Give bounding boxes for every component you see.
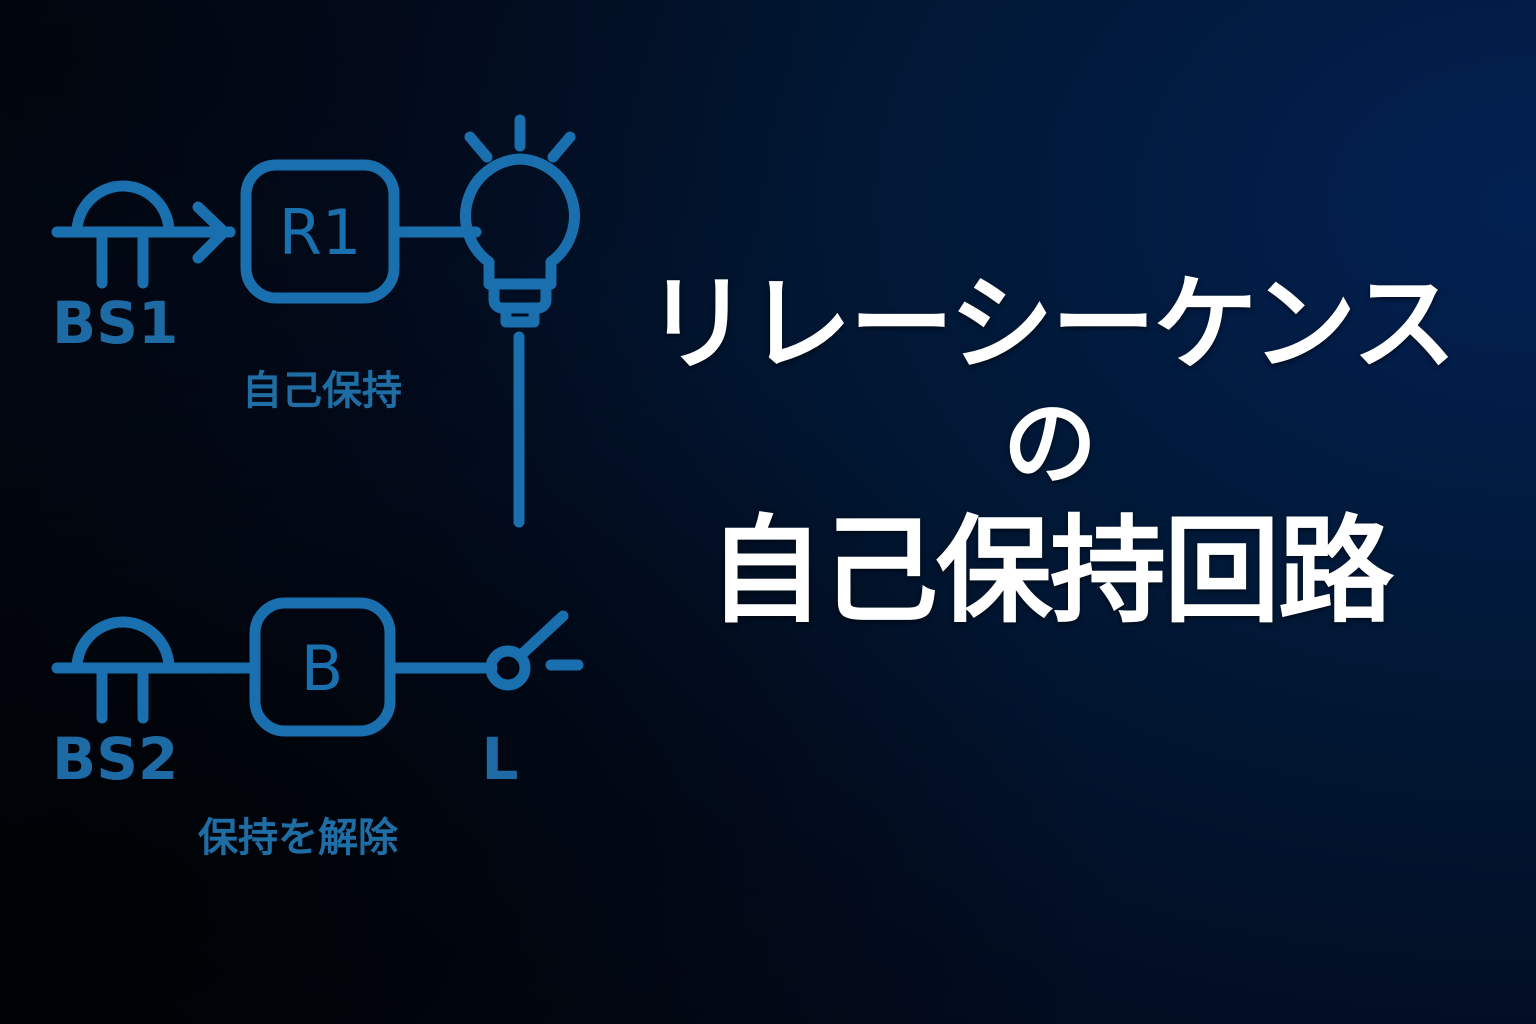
open-contact-switch-icon-l (491, 616, 578, 685)
slide-canvas: R1 B BS1 BS2 L 自己保持 保持を解除 リレーシーケンス の 自己保… (0, 0, 1536, 1024)
title-line-3: 自己保持回路 (640, 514, 1460, 630)
relay-label-b: B (301, 632, 344, 705)
switch-label-bs2: BS2 (52, 725, 178, 793)
caption-self-hold: 自己保持 (242, 368, 402, 414)
title-line-2: の (640, 398, 1460, 492)
light-bulb-icon (466, 120, 575, 322)
relay-label-r1: R1 (279, 196, 362, 269)
slide-title: リレーシーケンス の 自己保持回路 (640, 272, 1460, 630)
relay-circuit-diagram: R1 B BS1 BS2 L 自己保持 保持を解除 (0, 0, 660, 1024)
contact-label-l: L (482, 725, 519, 793)
switch-label-bs1: BS1 (52, 289, 178, 357)
caption-release-hold: 保持を解除 (198, 815, 399, 861)
title-line-1: リレーシーケンス (640, 272, 1460, 376)
